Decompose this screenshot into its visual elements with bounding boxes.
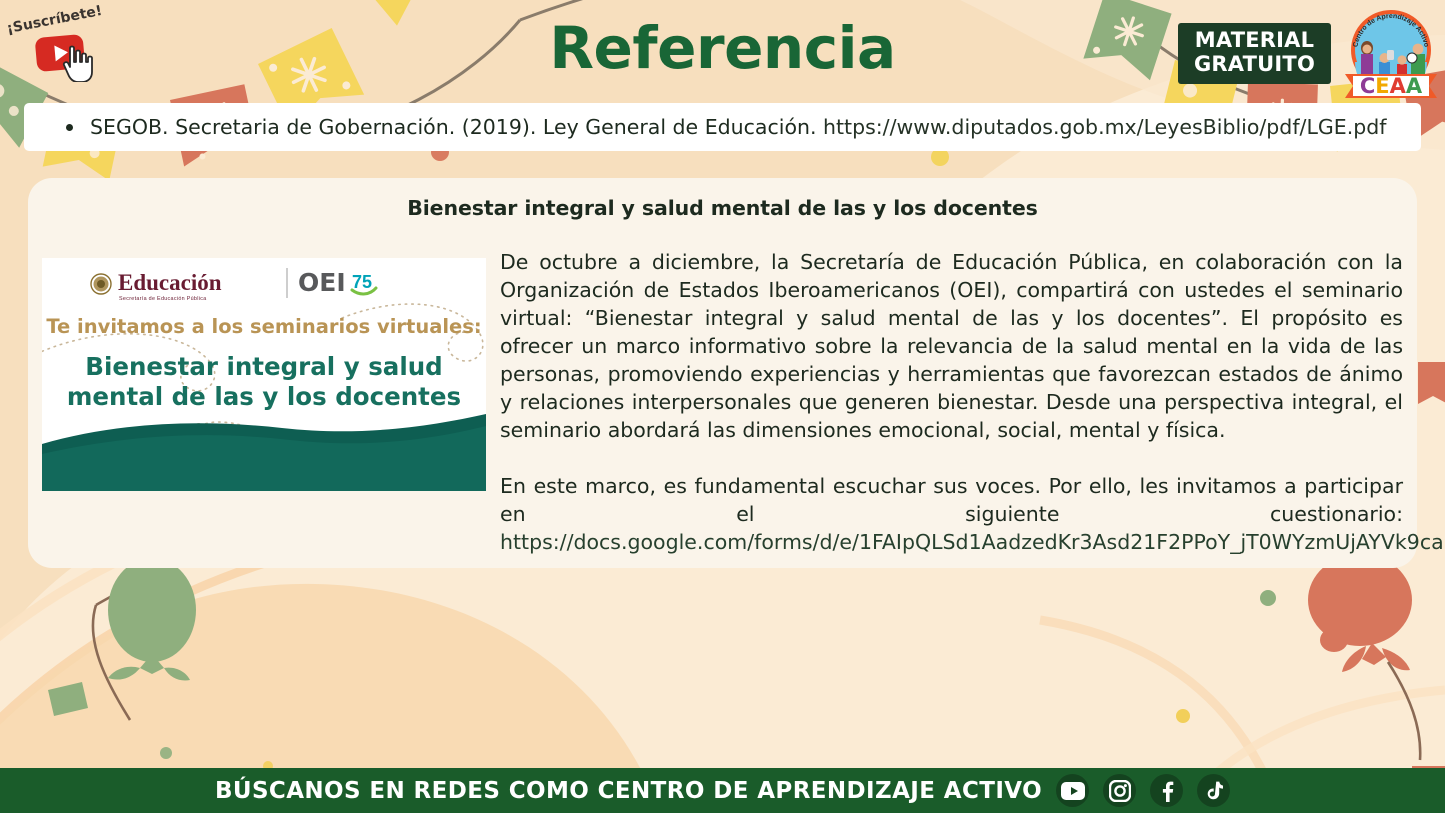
reference-url-link[interactable]: https://www.diputados.gob.mx/LeyesBiblio…: [823, 115, 1386, 139]
reference-bar: SEGOB. Secretaria de Gobernación. (2019)…: [24, 103, 1421, 151]
ceaa-acronym: CEAA: [1360, 74, 1423, 98]
card-title: Bienestar integral y salud mental de las…: [28, 196, 1417, 220]
body-paragraph-1: De octubre a diciembre, la Secretaría de…: [500, 248, 1403, 444]
content-card: Bienestar integral y salud mental de las…: [28, 178, 1417, 568]
svg-text:75: 75: [352, 272, 372, 292]
flyer-kicker: Te invitamos a los seminarios virtuales:: [46, 315, 481, 338]
material-badge-line-2: GRATUITO: [1194, 53, 1315, 77]
bullet-dot-icon: [66, 124, 73, 131]
flyer-headline-2: mental de las y los docentes: [67, 382, 461, 411]
slide-header: ¡Suscríbete! Referencia MATERIAL GRATUIT…: [0, 0, 1445, 102]
instagram-icon[interactable]: [1103, 774, 1136, 807]
google-form-url-link[interactable]: https://docs.google.com/forms/d/e/1FAIpQ…: [500, 530, 1445, 554]
balloon-red-decoration: [1308, 554, 1420, 760]
facebook-icon[interactable]: [1150, 774, 1183, 807]
card-body: De octubre a diciembre, la Secretaría de…: [500, 248, 1403, 556]
flyer-logo-oei: OEI: [298, 268, 346, 297]
youtube-icon[interactable]: [1056, 774, 1089, 807]
flyer-logo-educacion: Educación: [118, 270, 222, 295]
flyer-logo-educacion-sub: Secretaría de Educación Pública: [119, 296, 207, 302]
slide-root: ¡Suscríbete! Referencia MATERIAL GRATUIT…: [0, 0, 1445, 813]
reference-citation: SEGOB. Secretaria de Gobernación. (2019)…: [90, 115, 823, 139]
material-badge-line-1: MATERIAL: [1194, 29, 1315, 53]
footer-bar: BÚSCANOS EN REDES COMO CENTRO DE APRENDI…: [0, 768, 1445, 813]
material-gratuito-badge: MATERIAL GRATUITO: [1178, 23, 1331, 84]
body-paragraph-2: En este marco, es fundamental escuchar s…: [500, 472, 1403, 556]
balloon-green-decoration: [48, 558, 196, 720]
seminario-flyer-thumbnail[interactable]: Educación Secretaría de Educación Públic…: [42, 258, 486, 491]
footer-text: BÚSCANOS EN REDES COMO CENTRO DE APRENDI…: [215, 778, 1042, 804]
body-paragraph-2-text: En este marco, es fundamental escuchar s…: [500, 474, 1403, 526]
flyer-headline-1: Bienestar integral y salud: [85, 352, 442, 381]
ceaa-logo: Centro de Aprendizaje Activo: [1339, 6, 1443, 104]
tiktok-icon[interactable]: [1197, 774, 1230, 807]
